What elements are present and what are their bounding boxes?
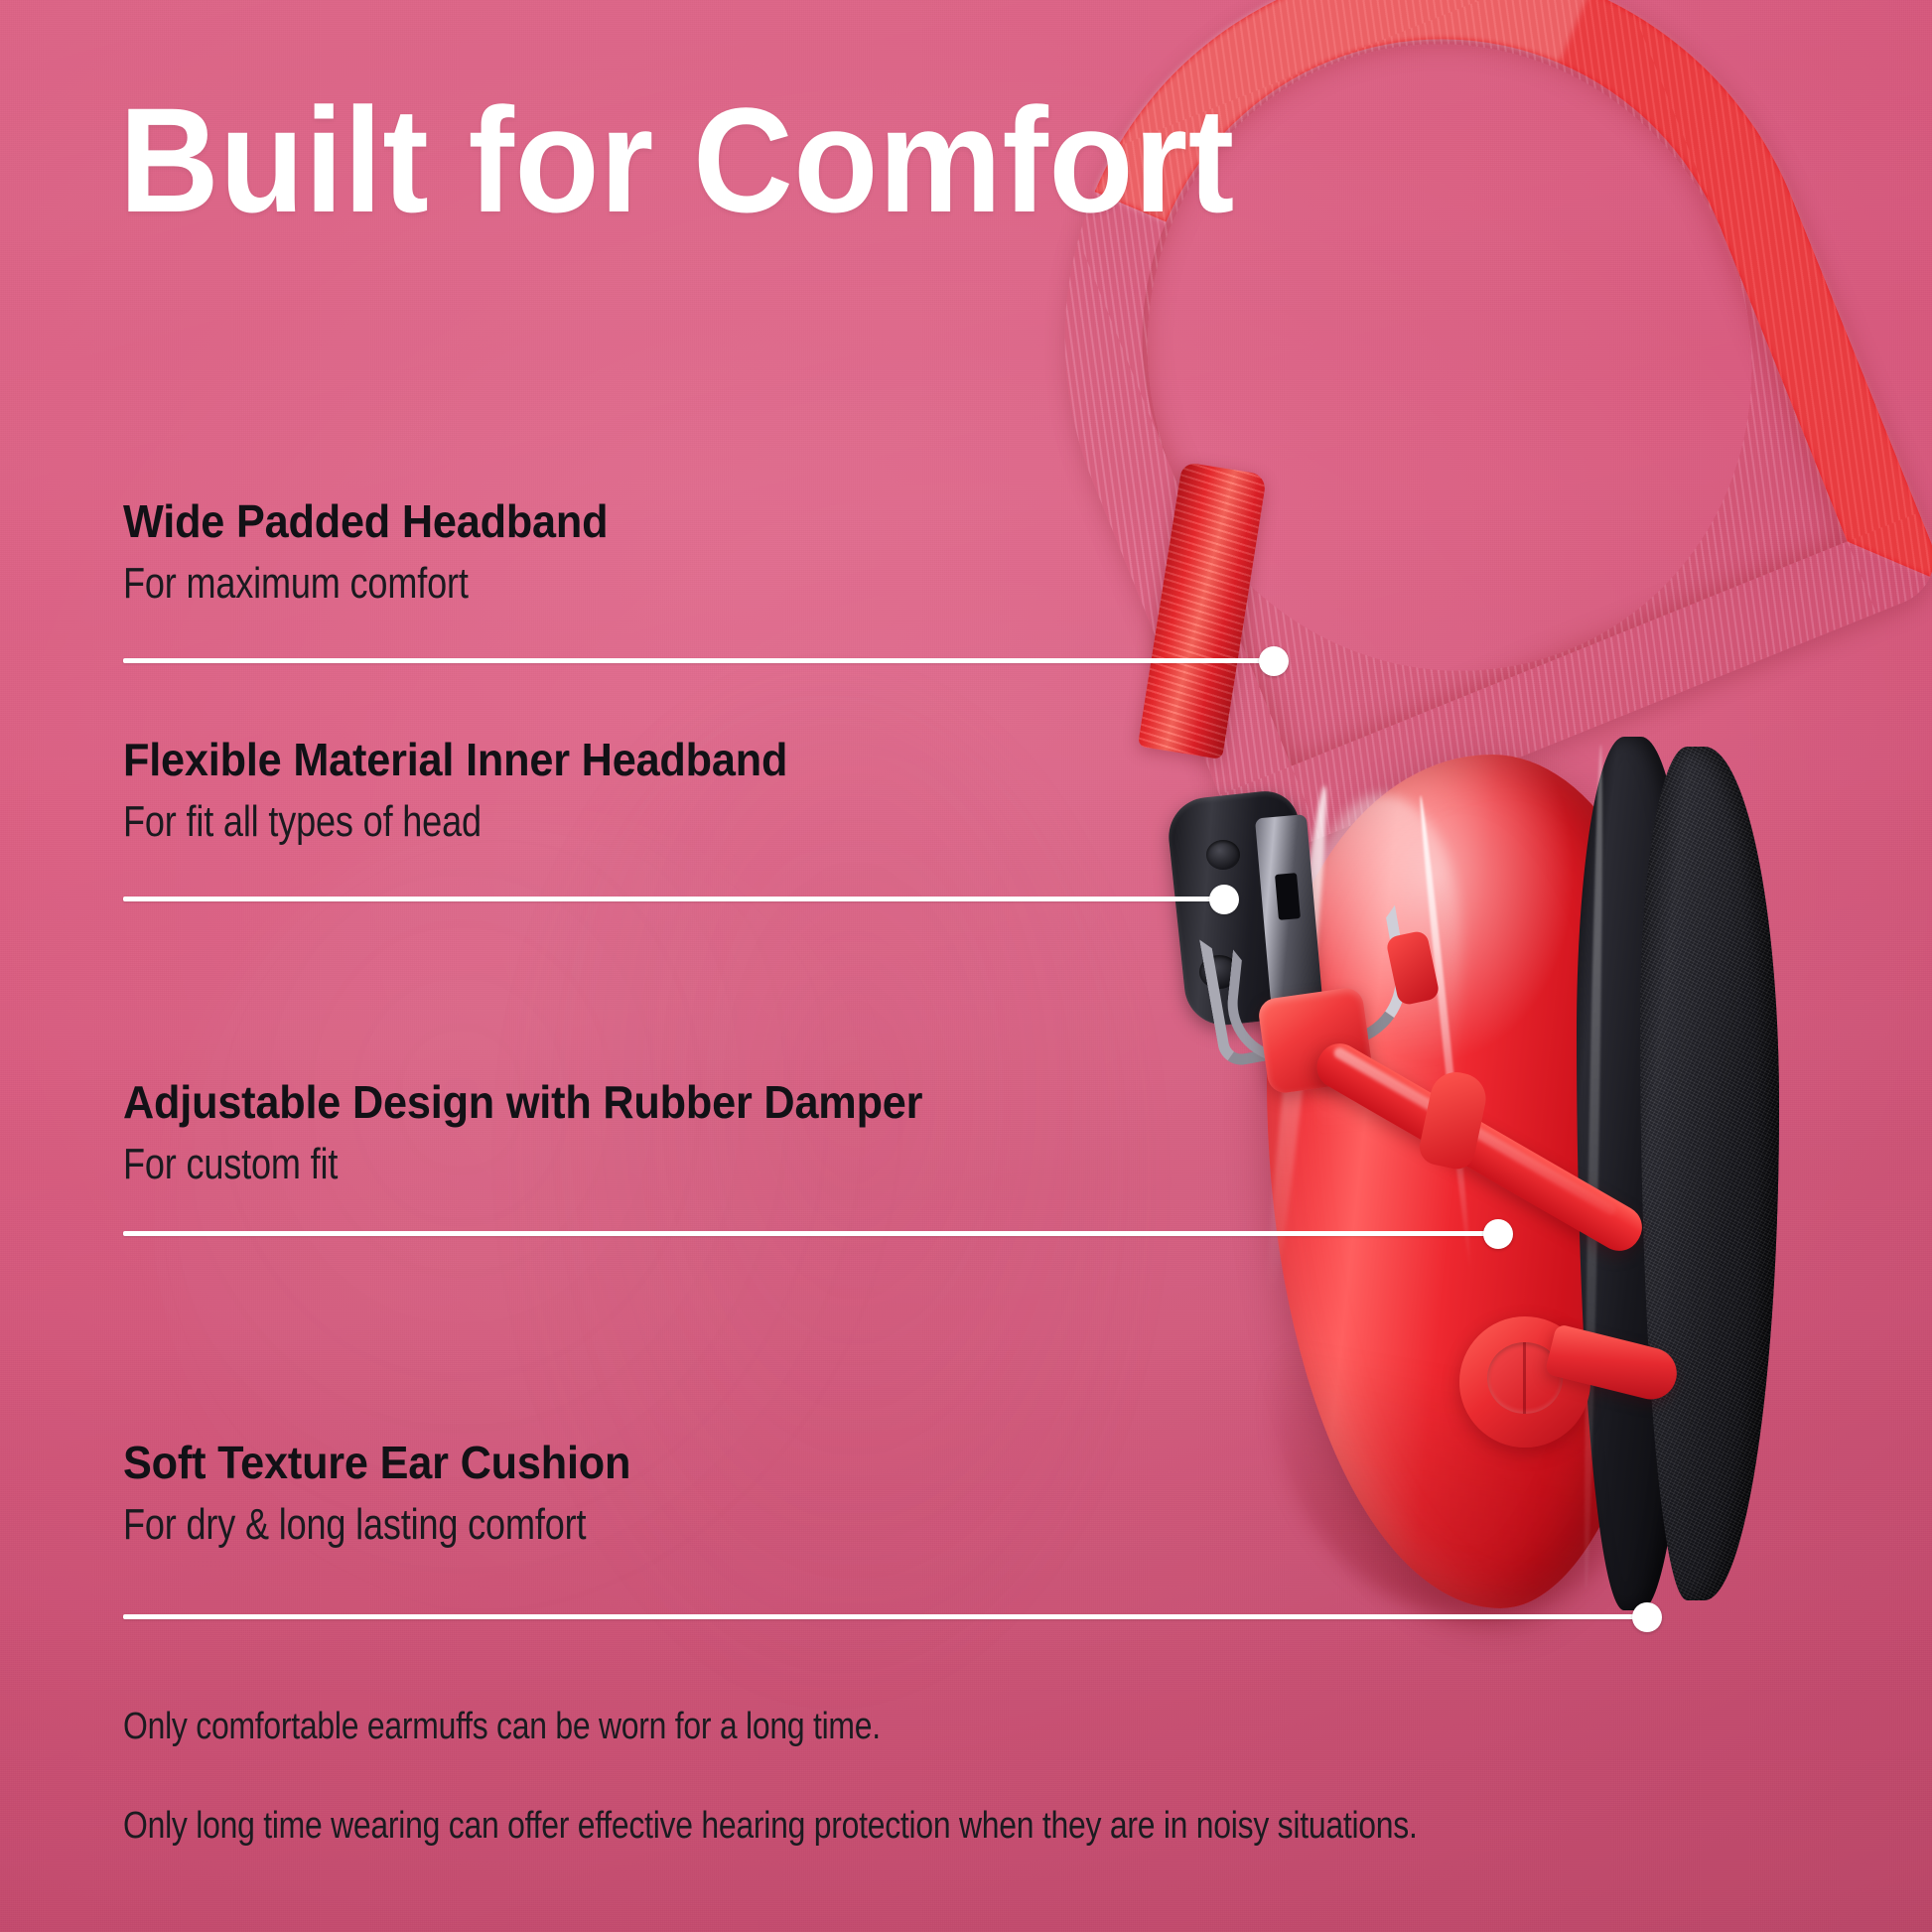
- feature-heading: Adjustable Design with Rubber Damper: [123, 1077, 922, 1128]
- feature-heading: Wide Padded Headband: [123, 496, 608, 547]
- feature-heading: Soft Texture Ear Cushion: [123, 1438, 654, 1488]
- background-vignette: [0, 0, 1932, 1932]
- feature-subtext: For custom fit: [123, 1140, 820, 1188]
- connector-line-2: [123, 897, 1233, 901]
- feature-subtext: For dry & long lasting comfort: [123, 1500, 586, 1549]
- footer-text-line-1: Only comfortable earmuffs can be worn fo…: [123, 1706, 881, 1748]
- feature-callout-adjustable-design-rubber-damper: Adjustable Design with Rubber Damper For…: [123, 1077, 974, 1188]
- connector-line-1: [123, 658, 1283, 663]
- connector-dot-1: [1259, 646, 1289, 676]
- connector-dot-2: [1209, 885, 1239, 914]
- feature-callout-wide-padded-headband: Wide Padded Headband For maximum comfort: [123, 496, 639, 608]
- page-title: Built for Comfort: [119, 81, 1235, 239]
- connector-line-3: [123, 1231, 1505, 1236]
- connector-line-4: [123, 1614, 1654, 1619]
- connector-dot-3: [1483, 1219, 1513, 1249]
- feature-subtext: For fit all types of head: [123, 797, 703, 846]
- footer-text-line-2: Only long time wearing can offer effecti…: [123, 1805, 1418, 1848]
- feature-callout-soft-texture-ear-cushion: Soft Texture Ear Cushion For dry & long …: [123, 1438, 688, 1549]
- infographic-canvas: Built for Comfort Wide Padded Headband F…: [0, 0, 1932, 1932]
- feature-subtext: For maximum comfort: [123, 559, 546, 608]
- connector-dot-4: [1632, 1602, 1662, 1632]
- feature-heading: Flexible Material Inner Headband: [123, 735, 787, 785]
- feature-callout-flexible-material-inner-headband: Flexible Material Inner Headband For fit…: [123, 735, 830, 846]
